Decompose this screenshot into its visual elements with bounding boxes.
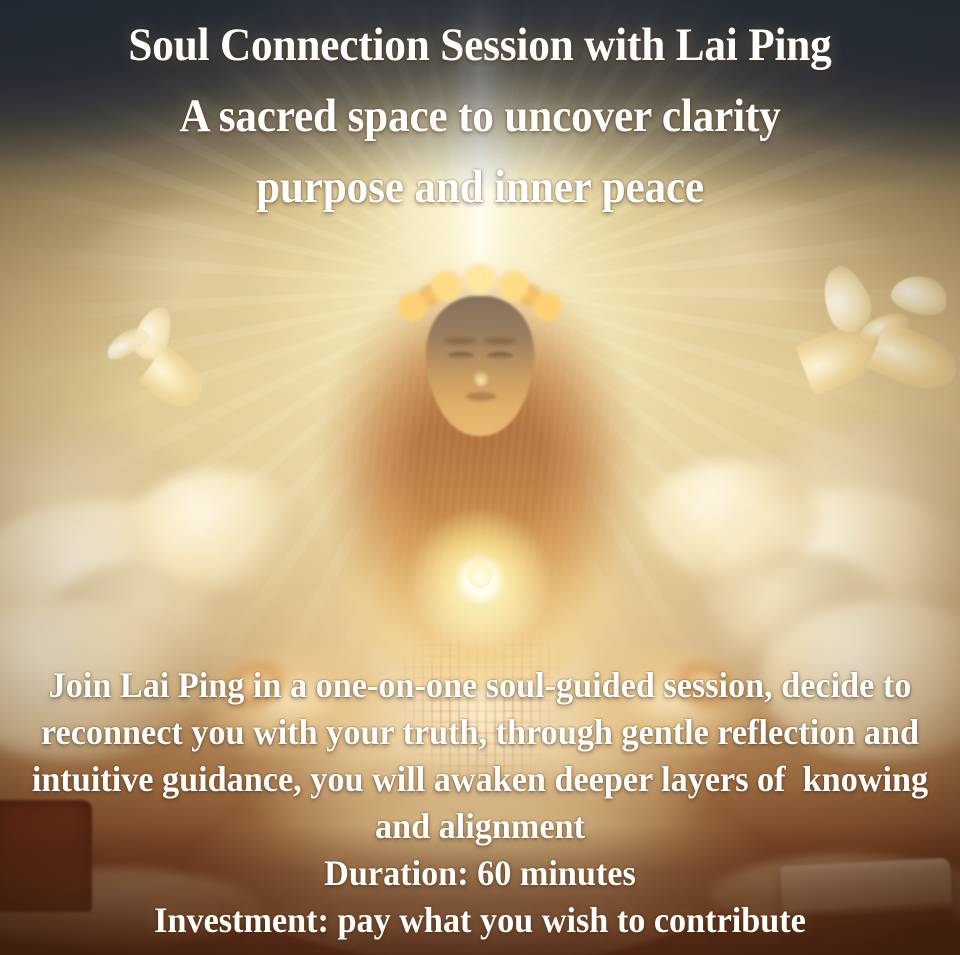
headline-line-1: Soul Connection Session with Lai Ping	[38, 10, 921, 81]
body-line-3: intuitive guidance, you will awaken deep…	[24, 756, 936, 803]
body-line-2: reconnect you with your truth, through g…	[24, 709, 936, 756]
body-line-4: and alignment	[24, 803, 936, 850]
investment-line: Investment: pay what you wish to contrib…	[24, 897, 936, 944]
duration-line: Duration: 60 minutes	[24, 850, 936, 897]
body-copy-block: Join Lai Ping in a one-on-one soul-guide…	[24, 662, 936, 944]
headline-line-2: A sacred space to uncover clarity	[38, 81, 921, 152]
poster-canvas: Soul Connection Session with Lai Ping A …	[0, 0, 960, 955]
headline-block: Soul Connection Session with Lai Ping A …	[38, 10, 921, 223]
headline-line-3: purpose and inner peace	[38, 152, 921, 223]
text-overlay: Soul Connection Session with Lai Ping A …	[0, 0, 960, 955]
body-line-1: Join Lai Ping in a one-on-one soul-guide…	[24, 662, 936, 709]
